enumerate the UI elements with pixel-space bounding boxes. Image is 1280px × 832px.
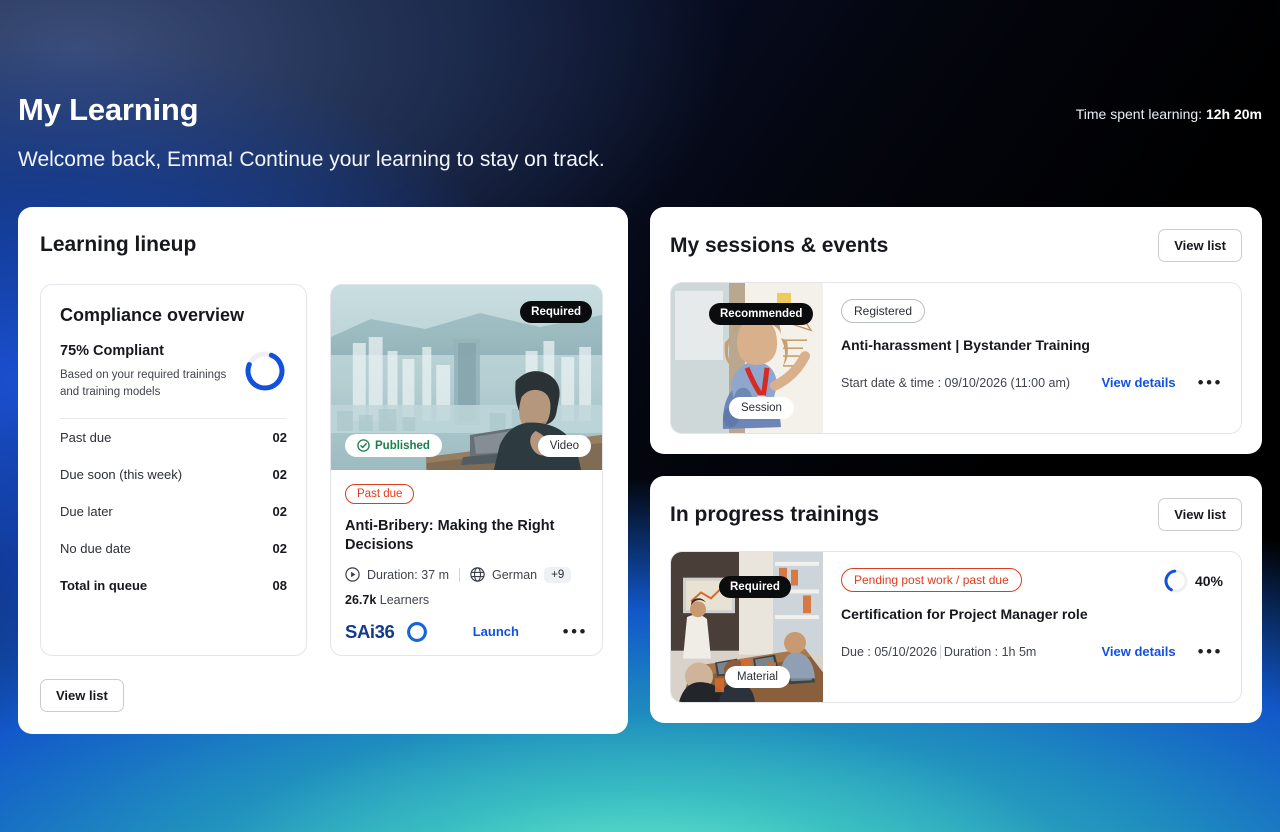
badge-session-type: Session	[729, 397, 794, 419]
course-learners-count: 26.7k	[345, 593, 376, 607]
badge-recommended: Recommended	[709, 303, 813, 325]
session-title: Anti-harassment | Bystander Training	[841, 337, 1223, 353]
learning-lineup-panel: Learning lineup Compliance overview 75% …	[18, 207, 628, 734]
left-column: Learning lineup Compliance overview 75% …	[18, 207, 628, 734]
compliance-row[interactable]: Due soon (this week) 02	[60, 456, 287, 493]
training-duration: Duration : 1h 5m	[944, 645, 1036, 659]
time-spent-learning: Time spent learning: 12h 20m	[1076, 106, 1262, 122]
compliance-row-value: 02	[273, 430, 287, 445]
training-due-date: Due : 05/10/2026	[841, 645, 937, 659]
right-column: My sessions & events View list	[650, 207, 1262, 723]
session-body: Registered Anti-harassment | Bystander T…	[823, 283, 1241, 433]
course-thumbnail: Required Published Video	[331, 285, 602, 470]
check-circle-icon	[357, 439, 370, 452]
learning-lineup-title: Learning lineup	[40, 233, 606, 257]
time-spent-label: Time spent learning:	[1076, 106, 1206, 122]
status-badge-pending-post-work: Pending post work / past due	[841, 568, 1022, 592]
status-badge-registered: Registered	[841, 299, 925, 323]
course-footer: SAi36 Launch •••	[345, 621, 588, 643]
lineup-row: Compliance overview 75% Compliant Based …	[40, 284, 606, 656]
course-language-more[interactable]: +9	[544, 567, 571, 583]
lineup-view-list-wrap: View list	[40, 679, 124, 712]
compliance-row-label: No due date	[60, 541, 131, 556]
compliance-row-value: 02	[273, 467, 287, 482]
session-footer: Start date & time : 09/10/2026 (11:00 am…	[841, 374, 1223, 391]
training-footer: Due : 05/10/2026 Duration : 1h 5m View d…	[841, 643, 1223, 660]
view-list-button-in-progress[interactable]: View list	[1158, 498, 1242, 531]
compliance-row-label: Total in queue	[60, 578, 147, 593]
compliance-row-label: Past due	[60, 430, 111, 445]
badge-session-type-label: Session	[741, 402, 782, 414]
compliance-row[interactable]: Due later 02	[60, 493, 287, 530]
course-meta-row: Duration: 37 m German +9	[345, 567, 588, 583]
compliance-row-value: 08	[273, 578, 287, 593]
compliance-header: 75% Compliant Based on your required tra…	[60, 343, 287, 400]
course-title: Anti-Bribery: Making the Right Decisions	[345, 517, 588, 555]
view-details-button-training[interactable]: View details	[1101, 644, 1175, 659]
badge-required: Required	[520, 301, 592, 323]
badge-published-label: Published	[375, 440, 430, 452]
session-thumbnail: Recommended Session	[671, 283, 823, 433]
welcome-message: Welcome back, Emma! Continue your learni…	[18, 148, 1262, 172]
training-body: Pending post work / past due 40% Certifi…	[823, 552, 1241, 702]
compliance-row-value: 02	[273, 541, 287, 556]
compliance-row-label: Due later	[60, 504, 113, 519]
time-spent-value: 12h 20m	[1206, 106, 1262, 122]
session-more-options-button[interactable]: •••	[1198, 374, 1223, 391]
session-item-card[interactable]: Recommended Session Registered Anti-hara…	[670, 282, 1242, 434]
badge-published: Published	[345, 434, 442, 457]
compliance-title: Compliance overview	[60, 305, 287, 326]
badge-required-training: Required	[719, 576, 791, 598]
view-details-button-session[interactable]: View details	[1101, 375, 1175, 390]
compliance-text-block: 75% Compliant Based on your required tra…	[60, 343, 240, 400]
training-item-card[interactable]: Required Material Pending post work / pa…	[670, 551, 1242, 703]
training-progress-label: 40%	[1195, 573, 1223, 589]
course-learners: 26.7k Learners	[345, 593, 588, 607]
view-list-button-sessions[interactable]: View list	[1158, 229, 1242, 262]
badge-content-type: Video	[538, 435, 591, 457]
compliance-row-label: Due soon (this week)	[60, 467, 182, 482]
in-progress-header: In progress trainings View list	[670, 498, 1242, 531]
badge-material-type-label: Material	[737, 671, 778, 683]
meta-divider	[940, 645, 941, 659]
sessions-events-panel: My sessions & events View list	[650, 207, 1262, 454]
compliance-row[interactable]: Past due 02	[60, 419, 287, 456]
training-more-options-button[interactable]: •••	[1198, 643, 1223, 660]
compliance-percent-label: 75% Compliant	[60, 343, 240, 359]
training-title: Certification for Project Manager role	[841, 606, 1223, 622]
in-progress-title: In progress trainings	[670, 503, 879, 527]
in-progress-panel: In progress trainings View list	[650, 476, 1262, 723]
course-body: Past due Anti-Bribery: Making the Right …	[331, 470, 602, 655]
status-badge-past-due: Past due	[345, 484, 414, 504]
badge-material-type: Material	[725, 666, 790, 688]
course-language: German	[492, 568, 537, 582]
compliance-donut-chart	[243, 349, 287, 393]
course-card[interactable]: Required Published Video	[330, 284, 603, 656]
course-duration: Duration: 37 m	[367, 568, 449, 582]
compliance-list: Past due 02 Due soon (this week) 02 Due …	[60, 418, 287, 604]
view-list-button-lineup[interactable]: View list	[40, 679, 124, 712]
compliance-row-value: 02	[273, 504, 287, 519]
badge-content-type-label: Video	[550, 440, 579, 452]
compliance-overview-card: Compliance overview 75% Compliant Based …	[40, 284, 307, 656]
compliance-description: Based on your required trainings and tra…	[60, 367, 240, 400]
meta-divider	[459, 568, 460, 582]
compliance-row[interactable]: No due date 02	[60, 530, 287, 567]
play-circle-icon	[345, 567, 360, 582]
progress-ring-icon	[1163, 568, 1189, 594]
page-header: My Learning Welcome back, Emma! Continue…	[18, 92, 1262, 172]
compliance-row-total[interactable]: Total in queue 08	[60, 567, 287, 604]
svg-text:SAi36: SAi36	[345, 621, 395, 642]
sessions-header: My sessions & events View list	[670, 229, 1242, 262]
session-start-datetime: Start date & time : 09/10/2026 (11:00 am…	[841, 376, 1070, 390]
training-progress: 40%	[1163, 568, 1223, 594]
launch-button[interactable]: Launch	[473, 624, 519, 639]
sessions-title: My sessions & events	[670, 234, 888, 258]
globe-icon	[470, 567, 485, 582]
training-thumbnail: Required Material	[671, 552, 823, 702]
course-more-options-button[interactable]: •••	[563, 623, 588, 640]
sai360-logo: SAi36	[345, 621, 429, 643]
course-learners-label: Learners	[380, 593, 429, 607]
